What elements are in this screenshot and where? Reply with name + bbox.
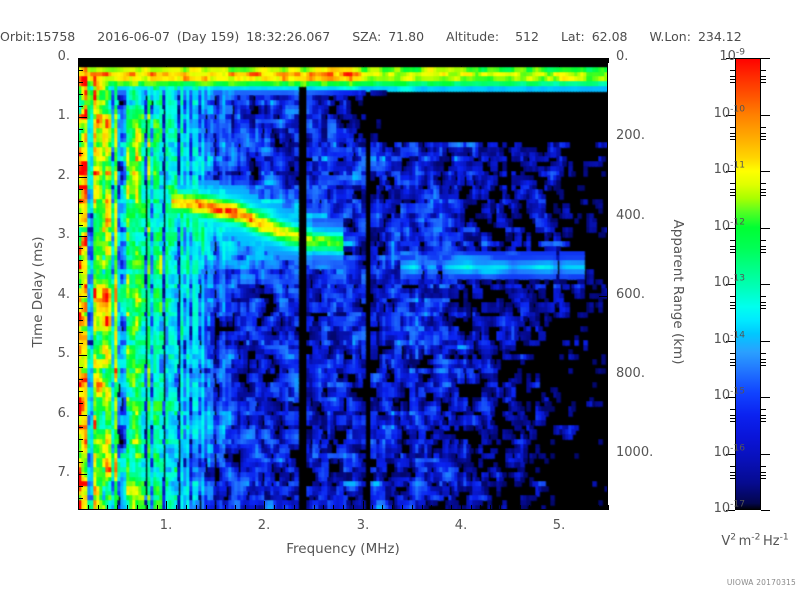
colorbar-tick-label-7: 10-16 xyxy=(714,445,745,460)
x-tick-top xyxy=(137,58,138,63)
x-tick-top xyxy=(166,58,167,67)
x-tick-minor xyxy=(588,505,589,510)
x-tick-minor xyxy=(157,505,158,510)
y-tick-minor-right xyxy=(603,256,608,257)
x-tick-minor xyxy=(529,505,530,510)
colorbar-tick-minor-right xyxy=(761,249,766,250)
colorbar-tick-right-4 xyxy=(761,284,770,285)
x-tick-minor xyxy=(284,505,285,510)
ionogram-figure: Orbit:157582016-06-07(Day 159)18:32:26.0… xyxy=(0,0,800,600)
x-tick-top xyxy=(78,58,79,63)
y-tick-label-right-1: 200. xyxy=(616,128,676,143)
colorbar-tick-minor-left xyxy=(730,365,735,366)
lat-value: 62.08 xyxy=(592,29,628,44)
x-axis-title: Frequency (MHz) xyxy=(243,541,443,557)
altitude-label: Altitude: xyxy=(446,29,499,44)
colorbar-tick-minor-right xyxy=(761,305,766,306)
colorbar-tick-minor-right xyxy=(761,302,766,303)
x-tick-minor xyxy=(304,505,305,510)
observation-time: 18:32:26.067 xyxy=(246,29,330,44)
spectrogram-canvas[interactable] xyxy=(78,58,608,510)
y-tick-minor-left xyxy=(78,308,83,309)
y-tick-major-right-1 xyxy=(599,137,608,138)
x-tick-minor xyxy=(88,505,89,510)
x-tick-minor xyxy=(372,505,373,510)
colorbar-tick-minor-right xyxy=(761,359,766,360)
header-metadata: Orbit:157582016-06-07(Day 159)18:32:26.0… xyxy=(0,29,800,47)
colorbar-tick-minor-left xyxy=(730,183,735,184)
colorbar-label-exponent: -15 xyxy=(730,387,745,397)
x-tick-top xyxy=(88,58,89,63)
colorbar-tick-minor-left xyxy=(730,192,735,193)
x-tick-top xyxy=(274,58,275,63)
x-tick-label-1: 2. xyxy=(239,518,289,533)
colorbar-tick-minor-right xyxy=(761,252,766,253)
colorbar-label-base: 10 xyxy=(714,388,731,403)
colorbar-tick-label-1: 10-10 xyxy=(714,106,745,121)
x-tick-top xyxy=(441,58,442,63)
x-tick-minor xyxy=(343,505,344,510)
x-tick-minor xyxy=(608,505,609,510)
colorbar-label-exponent: -13 xyxy=(730,274,745,284)
x-tick-minor xyxy=(451,505,452,510)
y-tick-major-right-3 xyxy=(599,296,608,297)
x-tick-top xyxy=(372,58,373,63)
colorbar-label-exponent: -9 xyxy=(736,48,745,58)
y-tick-minor-right xyxy=(603,336,608,337)
colorbar-tick-minor-left xyxy=(730,133,735,134)
y-tick-minor-left xyxy=(78,462,83,463)
colorbar-tick-minor-right xyxy=(761,475,766,476)
colorbar-tick-minor-right xyxy=(761,82,766,83)
y-tick-minor-left xyxy=(78,427,83,428)
x-tick-top xyxy=(117,58,118,63)
x-tick-top xyxy=(353,58,354,63)
y-tick-label-left-1: 1. xyxy=(22,108,70,123)
y-tick-minor-left xyxy=(78,201,83,202)
x-tick-major-2 xyxy=(363,501,364,510)
unit-volts: V xyxy=(721,534,730,549)
x-tick-top xyxy=(186,58,187,63)
x-tick-minor xyxy=(245,505,246,510)
colorbar-tick-label-4: 10-13 xyxy=(714,275,745,290)
x-tick-top xyxy=(588,58,589,63)
y-tick-major-left-3 xyxy=(78,236,87,237)
x-tick-top xyxy=(245,58,246,63)
wlon-label: W.Lon: xyxy=(650,29,691,44)
colorbar-tick-minor-right xyxy=(761,421,766,422)
colorbar-tick-minor-left xyxy=(730,359,735,360)
x-tick-major-4 xyxy=(559,501,560,510)
x-tick-top xyxy=(569,58,570,63)
colorbar-label-base: 10 xyxy=(714,162,731,177)
y-tick-minor-left xyxy=(78,272,83,273)
x-tick-major-0 xyxy=(166,501,167,510)
colorbar-tick-minor-left xyxy=(730,136,735,137)
y-tick-minor-left xyxy=(78,141,83,142)
colorbar-tick-minor-left xyxy=(730,415,735,416)
colorbar-tick-minor-left xyxy=(730,362,735,363)
colorbar-label-exponent: -12 xyxy=(730,218,745,228)
y-tick-minor-left xyxy=(78,367,83,368)
colorbar-tick-minor-left xyxy=(730,189,735,190)
x-tick-top xyxy=(500,58,501,63)
x-tick-label-0: 1. xyxy=(141,518,191,533)
colorbar-label-base: 10 xyxy=(714,219,731,234)
colorbar-tick-minor-right xyxy=(761,189,766,190)
colorbar-tick-right-7 xyxy=(761,454,770,455)
colorbar-label-base: 10 xyxy=(714,275,731,290)
x-tick-top xyxy=(206,58,207,63)
x-tick-minor xyxy=(176,505,177,510)
y-tick-major-left-2 xyxy=(78,177,87,178)
x-tick-top xyxy=(215,58,216,63)
x-tick-major-3 xyxy=(461,501,462,510)
colorbar-tick-right-1 xyxy=(761,115,770,116)
y-tick-minor-left xyxy=(78,165,83,166)
y-tick-label-left-7: 7. xyxy=(22,465,70,480)
colorbar-tick-minor-right xyxy=(761,195,766,196)
colorbar-label-base: 10 xyxy=(714,106,731,121)
y-tick-minor-left xyxy=(78,332,83,333)
x-tick-top xyxy=(412,58,413,63)
y-tick-minor-right xyxy=(603,415,608,416)
y-tick-label-left-2: 2. xyxy=(22,168,70,183)
y-tick-minor-left xyxy=(78,403,83,404)
colorbar-tick-minor-left xyxy=(730,305,735,306)
colorbar-tick-minor-right xyxy=(761,76,766,77)
y-tick-label-right-5: 1000. xyxy=(616,445,676,460)
x-tick-top xyxy=(147,58,148,63)
x-tick-top xyxy=(490,58,491,63)
x-tick-minor xyxy=(206,505,207,510)
colorbar-tick-minor-right xyxy=(761,183,766,184)
colorbar-tick-right-8 xyxy=(761,510,770,511)
colorbar-tick-minor-left xyxy=(730,466,735,467)
x-tick-minor xyxy=(127,505,128,510)
y-tick-label-right-4: 800. xyxy=(616,366,676,381)
colorbar-tick-minor-right xyxy=(761,139,766,140)
x-tick-minor xyxy=(510,505,511,510)
y-tick-label-left-0: 0. xyxy=(22,49,70,64)
x-tick-top xyxy=(559,58,560,67)
y-tick-major-left-6 xyxy=(78,415,87,416)
y-tick-minor-left xyxy=(78,439,83,440)
colorbar-tick-minor-right xyxy=(761,472,766,473)
y-tick-minor-left xyxy=(78,486,83,487)
colorbar[interactable]: 10-910-1010-1110-1210-1310-1410-1510-161… xyxy=(735,58,761,510)
x-tick-top xyxy=(598,58,599,63)
orbit-value: 15758 xyxy=(36,29,76,44)
y-tick-minor-left xyxy=(78,248,83,249)
sza-value: 71.80 xyxy=(388,29,424,44)
colorbar-tick-minor-right xyxy=(761,127,766,128)
y-tick-minor-left xyxy=(78,189,83,190)
x-tick-top xyxy=(176,58,177,63)
y-tick-major-left-4 xyxy=(78,296,87,297)
colorbar-label-exponent: -11 xyxy=(730,161,745,171)
colorbar-tick-minor-right xyxy=(761,362,766,363)
x-tick-minor xyxy=(107,505,108,510)
unit-hertz-exponent: -1 xyxy=(780,533,789,543)
x-tick-top xyxy=(343,58,344,63)
watermark-label: UIOWA 20170315 xyxy=(700,578,796,587)
x-tick-minor xyxy=(147,505,148,510)
altitude-value: 512 xyxy=(515,29,539,44)
unit-hertz: Hz xyxy=(763,534,780,549)
x-tick-minor xyxy=(422,505,423,510)
y-tick-minor-right xyxy=(603,98,608,99)
colorbar-tick-minor-left xyxy=(730,246,735,247)
x-tick-top xyxy=(471,58,472,63)
y-tick-minor-left xyxy=(78,284,83,285)
x-tick-minor xyxy=(137,505,138,510)
x-tick-minor xyxy=(569,505,570,510)
colorbar-tick-minor-right xyxy=(761,192,766,193)
x-tick-top xyxy=(264,58,265,67)
x-tick-minor xyxy=(353,505,354,510)
x-tick-top xyxy=(529,58,530,63)
colorbar-label-exponent: -16 xyxy=(730,444,745,454)
x-tick-top xyxy=(363,58,364,67)
x-tick-top xyxy=(304,58,305,63)
x-tick-minor xyxy=(235,505,236,510)
x-tick-top xyxy=(422,58,423,63)
x-tick-minor xyxy=(255,505,256,510)
x-tick-minor xyxy=(382,505,383,510)
x-tick-top xyxy=(235,58,236,63)
colorbar-tick-minor-right xyxy=(761,70,766,71)
colorbar-tick-minor-left xyxy=(730,139,735,140)
colorbar-tick-minor-left xyxy=(730,353,735,354)
colorbar-tick-minor-left xyxy=(730,478,735,479)
x-tick-minor xyxy=(323,505,324,510)
colorbar-tick-label-3: 10-12 xyxy=(714,219,745,234)
colorbar-tick-minor-left xyxy=(730,249,735,250)
colorbar-tick-minor-right xyxy=(761,136,766,137)
colorbar-tick-minor-right xyxy=(761,418,766,419)
y-tick-major-right-2 xyxy=(599,217,608,218)
x-tick-minor xyxy=(333,505,334,510)
y-tick-major-left-7 xyxy=(78,474,87,475)
x-tick-minor xyxy=(402,505,403,510)
colorbar-tick-minor-left xyxy=(730,418,735,419)
colorbar-tick-minor-right xyxy=(761,296,766,297)
colorbar-tick-minor-left xyxy=(730,296,735,297)
y-tick-major-left-1 xyxy=(78,117,87,118)
y-tick-minor-left xyxy=(78,213,83,214)
x-tick-minor xyxy=(392,505,393,510)
y-tick-major-left-5 xyxy=(78,355,87,356)
wlon-value: 234.12 xyxy=(698,29,742,44)
x-tick-top xyxy=(314,58,315,63)
observation-day: (Day 159) xyxy=(177,29,239,44)
y-tick-label-left-6: 6. xyxy=(22,406,70,421)
x-tick-minor xyxy=(431,505,432,510)
x-tick-top xyxy=(510,58,511,63)
y-tick-minor-right xyxy=(603,177,608,178)
colorbar-label-base: 10 xyxy=(714,445,731,460)
y-tick-minor-left xyxy=(78,343,83,344)
x-tick-top xyxy=(225,58,226,63)
colorbar-tick-label-0: 10-9 xyxy=(719,49,745,64)
colorbar-tick-minor-left xyxy=(730,82,735,83)
x-tick-minor xyxy=(549,505,550,510)
x-tick-top xyxy=(255,58,256,63)
colorbar-tick-minor-right xyxy=(761,246,766,247)
y-tick-minor-left xyxy=(78,260,83,261)
colorbar-unit-label: V2 m-2 Hz-1 xyxy=(700,534,800,549)
colorbar-tick-label-6: 10-15 xyxy=(714,388,745,403)
colorbar-tick-minor-left xyxy=(730,252,735,253)
colorbar-tick-minor-left xyxy=(730,409,735,410)
x-tick-minor xyxy=(196,505,197,510)
x-tick-minor xyxy=(520,505,521,510)
colorbar-tick-minor-right xyxy=(761,79,766,80)
x-tick-minor xyxy=(294,505,295,510)
x-tick-top xyxy=(461,58,462,67)
y-tick-major-left-0 xyxy=(78,58,87,59)
x-tick-top xyxy=(579,58,580,63)
colorbar-tick-minor-left xyxy=(730,308,735,309)
colorbar-label-base: 10 xyxy=(714,501,731,516)
y-tick-major-right-5 xyxy=(599,454,608,455)
x-tick-minor xyxy=(441,505,442,510)
colorbar-tick-minor-left xyxy=(730,472,735,473)
y-tick-minor-right xyxy=(603,494,608,495)
x-tick-top xyxy=(127,58,128,63)
x-tick-minor xyxy=(598,505,599,510)
colorbar-tick-right-6 xyxy=(761,397,770,398)
colorbar-tick-minor-right xyxy=(761,240,766,241)
y-axis-title-right: Apparent Range (km) xyxy=(670,217,686,367)
y-tick-minor-left xyxy=(78,153,83,154)
colorbar-label-base: 10 xyxy=(719,49,736,64)
x-tick-top xyxy=(480,58,481,63)
x-tick-minor xyxy=(225,505,226,510)
colorbar-label-exponent: -10 xyxy=(730,105,745,115)
x-tick-minor xyxy=(186,505,187,510)
colorbar-tick-right-5 xyxy=(761,341,770,342)
x-tick-top xyxy=(107,58,108,63)
colorbar-tick-right-3 xyxy=(761,228,770,229)
colorbar-tick-minor-right xyxy=(761,415,766,416)
x-tick-top xyxy=(98,58,99,63)
colorbar-tick-minor-left xyxy=(730,240,735,241)
x-tick-top xyxy=(539,58,540,63)
colorbar-tick-right-0 xyxy=(761,58,770,59)
observation-date: 2016-06-07 xyxy=(97,29,170,44)
y-tick-label-right-2: 400. xyxy=(616,208,676,223)
x-tick-label-2: 3. xyxy=(338,518,388,533)
colorbar-tick-label-8: 10-17 xyxy=(714,501,745,516)
colorbar-tick-minor-left xyxy=(730,195,735,196)
unit-volts-exponent: 2 xyxy=(730,533,736,543)
x-tick-minor xyxy=(539,505,540,510)
x-tick-top xyxy=(392,58,393,63)
x-tick-top xyxy=(382,58,383,63)
x-tick-top xyxy=(196,58,197,63)
y-tick-label-right-0: 0. xyxy=(616,49,676,64)
y-tick-label-right-3: 600. xyxy=(616,287,676,302)
colorbar-tick-minor-left xyxy=(730,421,735,422)
x-tick-minor xyxy=(117,505,118,510)
colorbar-tick-minor-left xyxy=(730,79,735,80)
x-tick-minor xyxy=(490,505,491,510)
y-tick-minor-left xyxy=(78,391,83,392)
colorbar-tick-minor-right xyxy=(761,409,766,410)
x-tick-top xyxy=(294,58,295,63)
y-tick-minor-left xyxy=(78,94,83,95)
colorbar-tick-minor-right xyxy=(761,133,766,134)
y-tick-major-right-4 xyxy=(599,375,608,376)
spectrogram-panel[interactable] xyxy=(78,58,608,510)
x-tick-top xyxy=(451,58,452,63)
x-tick-minor xyxy=(480,505,481,510)
colorbar-label-base: 10 xyxy=(714,332,731,347)
y-tick-minor-left xyxy=(78,70,83,71)
y-tick-minor-left xyxy=(78,129,83,130)
y-tick-minor-left xyxy=(78,82,83,83)
x-tick-top xyxy=(520,58,521,63)
x-tick-top xyxy=(431,58,432,63)
colorbar-tick-minor-left xyxy=(730,76,735,77)
colorbar-label-exponent: -14 xyxy=(730,331,745,341)
colorbar-tick-label-2: 10-11 xyxy=(714,162,745,177)
colorbar-tick-minor-right xyxy=(761,365,766,366)
x-tick-minor xyxy=(274,505,275,510)
colorbar-tick-minor-right xyxy=(761,478,766,479)
colorbar-tick-right-2 xyxy=(761,171,770,172)
x-tick-minor xyxy=(215,505,216,510)
colorbar-tick-minor-left xyxy=(730,475,735,476)
unit-meters: m xyxy=(739,534,752,549)
colorbar-tick-label-5: 10-14 xyxy=(714,332,745,347)
x-tick-minor xyxy=(78,505,79,510)
sza-label: SZA: xyxy=(352,29,381,44)
x-tick-minor xyxy=(314,505,315,510)
lat-label: Lat: xyxy=(561,29,585,44)
y-axis-title-left: Time Delay (ms) xyxy=(30,222,46,362)
orbit-label: Orbit: xyxy=(0,29,36,44)
x-tick-top xyxy=(549,58,550,63)
y-tick-minor-left xyxy=(78,379,83,380)
x-tick-minor xyxy=(471,505,472,510)
y-tick-major-right-0 xyxy=(599,58,608,59)
colorbar-tick-minor-left xyxy=(730,127,735,128)
y-tick-minor-left xyxy=(78,225,83,226)
x-tick-minor xyxy=(98,505,99,510)
y-tick-minor-left xyxy=(78,320,83,321)
y-tick-minor-left xyxy=(78,451,83,452)
colorbar-tick-minor-right xyxy=(761,308,766,309)
x-tick-top xyxy=(284,58,285,63)
x-tick-minor xyxy=(500,505,501,510)
unit-meters-exponent: -2 xyxy=(751,533,760,543)
colorbar-tick-minor-right xyxy=(761,466,766,467)
x-tick-label-4: 5. xyxy=(534,518,584,533)
x-tick-top xyxy=(608,58,609,63)
x-tick-top xyxy=(333,58,334,63)
x-tick-label-3: 4. xyxy=(436,518,486,533)
colorbar-tick-minor-left xyxy=(730,302,735,303)
x-tick-top xyxy=(157,58,158,63)
x-tick-top xyxy=(323,58,324,63)
y-tick-minor-left xyxy=(78,106,83,107)
colorbar-tick-minor-left xyxy=(730,70,735,71)
x-tick-top xyxy=(402,58,403,63)
x-tick-minor xyxy=(579,505,580,510)
